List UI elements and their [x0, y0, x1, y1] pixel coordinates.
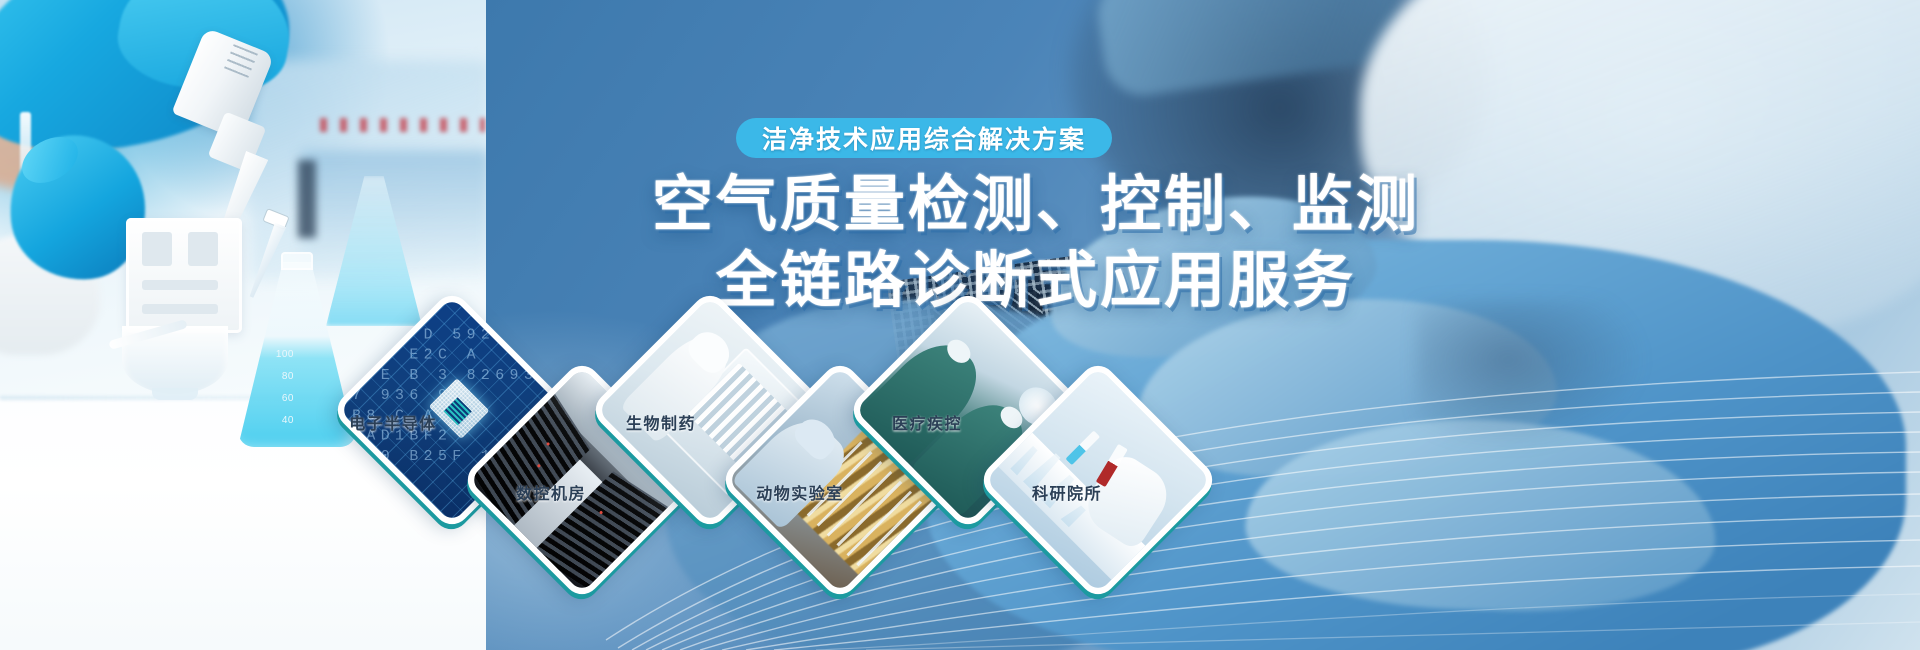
industry-card-label-electronics: 电子半导体 — [349, 410, 437, 434]
industry-card-label-animal-lab: 动物实验室 — [756, 480, 844, 504]
industry-card-label-datacenter: 数控机房 — [516, 480, 586, 504]
industry-card-label-research: 科研院所 — [1032, 480, 1102, 504]
industry-card-label-pharma: 生物制药 — [626, 410, 696, 434]
industry-card-row: A2 F D 59267 8 E2C A0 E B 3 826937 936 9… — [0, 0, 1920, 650]
hero-banner: 100 80 60 40 — [0, 0, 1920, 650]
blue-test-tube — [1065, 430, 1100, 465]
industry-card-label-medical: 医疗疾控 — [892, 410, 962, 434]
